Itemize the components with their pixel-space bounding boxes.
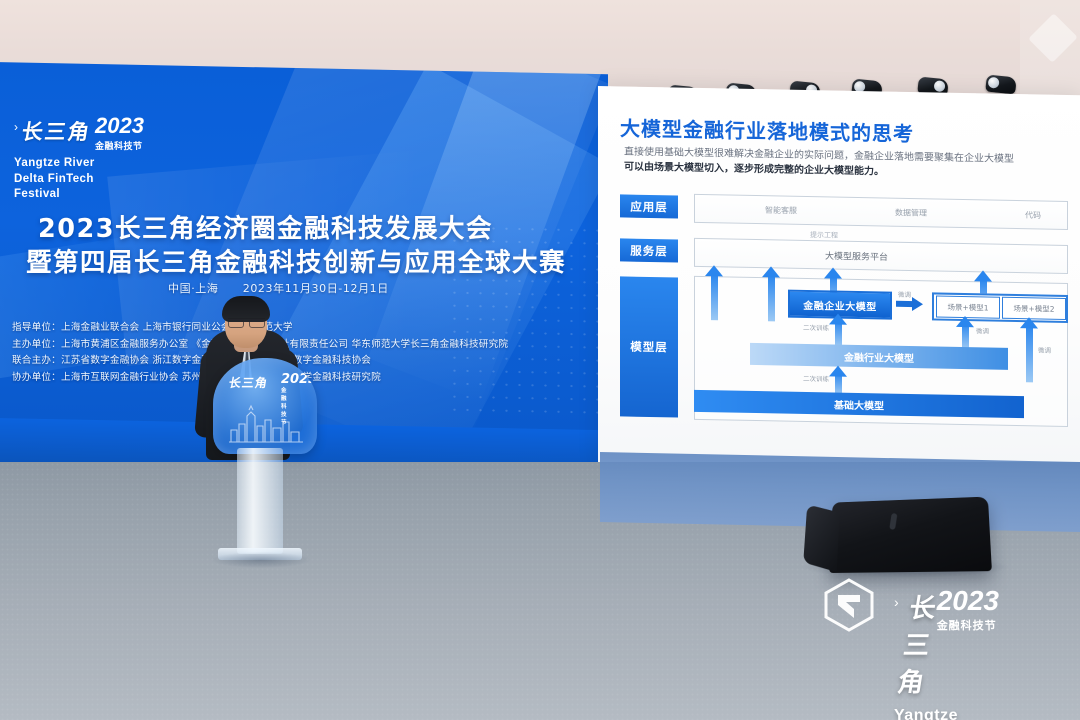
flow-arrow-up-icon xyxy=(956,316,974,327)
watermark-chinese-mark: 长三角 xyxy=(895,588,941,699)
event-location: 中国·上海 xyxy=(168,282,219,295)
podium-logo-subtitle: 金融科技节 xyxy=(281,386,287,426)
podium-logo-mark: 长三角 xyxy=(228,374,270,391)
podium-stem xyxy=(237,448,283,554)
application-layer-row: 智能客服 数据管理 代码 xyxy=(694,194,1068,230)
service-cell: 大模型服务平台 xyxy=(825,248,888,262)
logo-en-line2: Delta FinTech xyxy=(14,172,144,188)
flow-arrow-stem xyxy=(711,274,718,320)
watermark-en-line1: Yangtze River xyxy=(894,705,999,720)
app-cell: 代码 xyxy=(1025,209,1041,220)
festival-logo: › 长三角 2023 金融科技节 Yangtze River Delta Fin… xyxy=(14,116,144,203)
event-date-line: 中国·上海 2023年11月30日-12月1日 xyxy=(168,280,389,296)
watermark-subtitle: 金融科技节 xyxy=(937,617,999,633)
flow-arrow-label: 二次训练 xyxy=(803,322,829,332)
service-layer-row: 大模型服务平台 xyxy=(694,238,1068,274)
flow-arrow-label: 微调 xyxy=(976,325,989,335)
flow-arrow-up-icon xyxy=(705,265,723,276)
slide: 大模型金融行业落地模式的思考 直接使用基础大模型很难解决金融企业的实际问题，金融… xyxy=(598,86,1080,477)
slide-body: 直接使用基础大模型很难解决金融企业的实际问题，金融企业落地需要聚集在企业大模型 … xyxy=(624,144,1014,181)
presentation-screen: 大模型金融行业落地模式的思考 直接使用基础大模型很难解决金融企业的实际问题，金融… xyxy=(598,86,1080,477)
flow-arrow-up-icon xyxy=(829,365,847,376)
watermark-year: 2023 xyxy=(937,585,999,616)
flow-arrow-stem xyxy=(1026,324,1033,382)
event-dates: 2023年11月30日-12月1日 xyxy=(243,282,389,295)
logo-subtitle: 金融科技节 xyxy=(95,139,144,152)
logo-chinese-mark: 长三角 xyxy=(20,116,94,146)
flow-arrow-label: 二次训练 xyxy=(803,373,829,383)
podium-logo: 长三角 2023 金融科技节 xyxy=(229,374,268,391)
logo-year: 2023 xyxy=(95,113,144,138)
stage-light xyxy=(985,74,1017,94)
app-cell: 智能客服 xyxy=(765,204,797,216)
application-layer-tag: 应用层 xyxy=(620,194,678,218)
conference-photo: › 长三角 2023 金融科技节 Yangtze River Delta Fin… xyxy=(0,0,1080,720)
flow-arrow-stem xyxy=(768,275,775,321)
flow-arrow-up-icon xyxy=(829,313,847,324)
event-title-line1: 2023长三角经济圈金融科技发展大会 xyxy=(38,208,493,245)
glasses-icon xyxy=(228,318,265,327)
slide-title: 大模型金融行业落地模式的思考 xyxy=(620,112,914,147)
flow-arrow-label: 微调 xyxy=(898,289,911,299)
prompt-engineering-label: 提示工程 xyxy=(810,230,838,241)
hexagon-logo-icon xyxy=(822,578,876,632)
flow-arrow-up-icon xyxy=(824,267,842,278)
watermark-arrow-icon: › xyxy=(894,588,899,616)
flow-arrow-right-icon xyxy=(912,297,923,311)
monitor-handle xyxy=(889,513,897,530)
flow-arrow-label: 微调 xyxy=(1038,344,1051,354)
stage-monitor-speaker xyxy=(829,497,992,573)
podium-front-panel: 长三角 2023 金融科技节 xyxy=(213,358,317,454)
model-layer-tag: 模型层 xyxy=(620,276,678,417)
flow-arrow-up-icon xyxy=(974,270,992,281)
podium-logo-year: 2023 xyxy=(281,372,317,387)
monitor-side-face xyxy=(803,504,839,572)
logo-en-line1: Yangtze River xyxy=(14,156,144,172)
event-title-line2: 暨第四届长三角金融科技创新与应用全球大赛 xyxy=(26,242,566,279)
logo-arrow-icon: › xyxy=(14,116,18,138)
flow-arrow-up-icon xyxy=(762,266,780,277)
logo-en-line3: Festival xyxy=(14,187,144,203)
flow-arrow-up-icon xyxy=(1020,317,1038,328)
podium-shadow xyxy=(212,552,310,568)
app-cell: 数据管理 xyxy=(895,207,927,219)
scenario-box-group: 场景+模型1 场景+模型2 xyxy=(932,292,1068,323)
skyline-graphic-icon xyxy=(229,404,303,444)
service-layer-tag: 服务层 xyxy=(620,238,678,262)
